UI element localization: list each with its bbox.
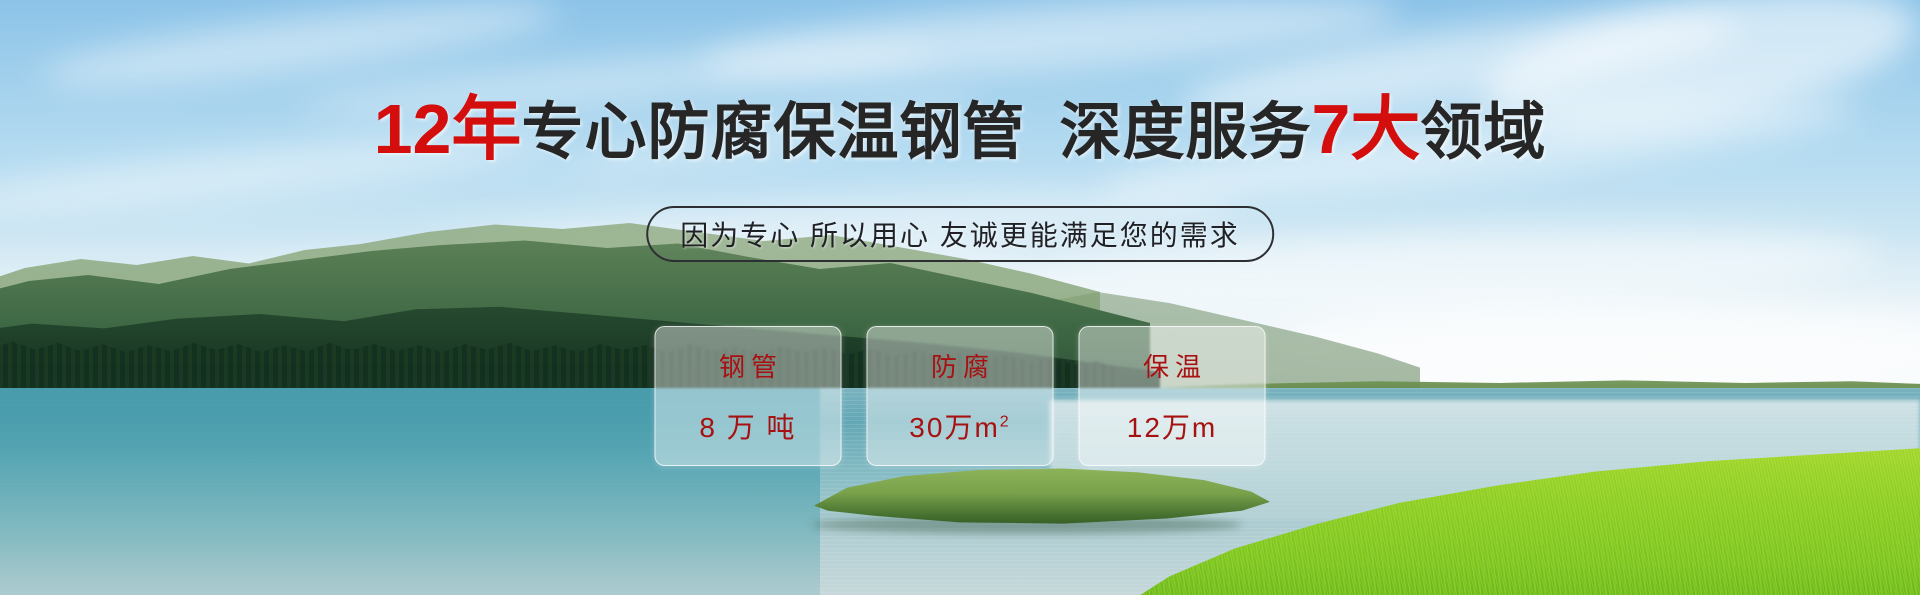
headline-segment-two-post: 领域 [1420,98,1546,167]
subtitle-pill: 因为专心 所以用心 友诚更能满足您的需求 [646,206,1274,262]
stat-label: 防腐 [925,347,995,384]
stat-value: 8 万 吨 [699,406,796,446]
stat-value-text: 30万m [909,412,999,443]
stat-card-steel-pipe[interactable]: 钢管 8 万 吨 [655,326,842,466]
stat-value: 12万m [1127,406,1217,446]
headline-fields-accent: 7大 [1311,90,1420,168]
stats-row: 钢管 8 万 吨 防腐 30万m2 保温 12万m [655,326,1266,466]
headline: 12年专心防腐保温钢管深度服务7大领域 [0,94,1920,168]
stat-card-insulation[interactable]: 保温 12万m [1079,326,1266,466]
stat-value-text: 8 万 吨 [699,412,796,443]
hero-banner: 12年专心防腐保温钢管深度服务7大领域 因为专心 所以用心 友诚更能满足您的需求… [0,0,1920,595]
stat-card-anticorrosion[interactable]: 防腐 30万m2 [867,326,1054,466]
stat-value: 30万m2 [909,406,1010,446]
stat-value-text: 12万m [1127,412,1217,443]
headline-segment-two-pre: 深度服务 [1059,98,1311,167]
subtitle-text: 因为专心 所以用心 友诚更能满足您的需求 [680,214,1240,254]
stat-label: 钢管 [713,347,783,384]
stat-label: 保温 [1137,347,1207,384]
banner-content: 12年专心防腐保温钢管深度服务7大领域 因为专心 所以用心 友诚更能满足您的需求… [0,0,1920,595]
headline-segment-one: 专心防腐保温钢管 [521,98,1025,167]
headline-years-accent: 12年 [374,90,522,168]
stat-value-superscript: 2 [1000,413,1011,430]
